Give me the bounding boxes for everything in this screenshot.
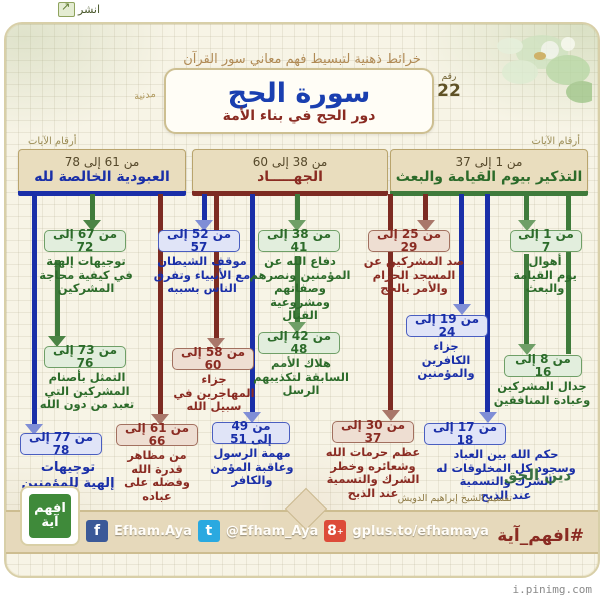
ayat-label-left: أرقام الآيات	[28, 136, 77, 147]
node-range-4: من 25 إلى 29	[375, 228, 443, 254]
node-caption-7: هلاك الأمم السابقة لتكذيبهم الرسل	[246, 357, 356, 398]
node-box-12[interactable]: من 67 إلى 72	[44, 230, 126, 252]
branch-box-2[interactable]: من 61 إلى 78 العبودية الخالصة لله	[18, 149, 186, 193]
node-range-5: من 30 إلى 37	[339, 419, 407, 445]
node-caption-5: عظم حرمات الله وشعائره وخطر الشرك والتسم…	[310, 446, 436, 500]
twitter-handle[interactable]: @Efham_Aya	[226, 524, 318, 539]
branch-title-1: الجهـــــاد	[257, 170, 323, 185]
node-range-3: من 19 إلى 24	[413, 313, 481, 339]
node-range-13: من 73 إلى 76	[51, 344, 119, 370]
node-box-14[interactable]: من 77 إلى 78	[20, 433, 102, 455]
node-box-5[interactable]: من 30 إلى 37	[332, 421, 414, 443]
brand-text: دين الحق	[504, 466, 571, 484]
node-box-8[interactable]: من 49 إلى 51	[212, 422, 290, 444]
branch-range-2: من 61 إلى 78	[65, 156, 140, 169]
node-caption-11: من مظاهر قدرة الله وفضله على عباده	[112, 449, 202, 503]
node-box-6[interactable]: من 38 إلى 41	[258, 230, 340, 252]
node-caption-12: توجيهات إلهية في كيفية محاجة المشركين	[32, 255, 140, 296]
node-box-11[interactable]: من 61 إلى 66	[116, 424, 198, 446]
facebook-handle[interactable]: Efham.Aya	[114, 524, 192, 539]
node-box-4[interactable]: من 25 إلى 29	[368, 230, 450, 252]
node-range-7: من 42 إلى 48	[265, 330, 333, 356]
node-box-3[interactable]: من 19 إلى 24	[406, 315, 488, 337]
surah-title-box: سورة الحج دور الحج في بناء الأمة	[164, 68, 434, 134]
node-box-2[interactable]: من 17 إلى 18	[424, 423, 506, 445]
surah-name: سورة الحج	[228, 80, 371, 107]
node-caption-0: أهوال يوم القيامة والبعث	[504, 255, 586, 296]
branch-underline-1	[192, 191, 388, 196]
node-range-12: من 67 إلى 72	[51, 228, 119, 254]
node-range-8: من 49 إلى 51	[219, 420, 283, 446]
facebook-icon[interactable]: f	[86, 520, 108, 542]
brand-logo: دين الحق	[504, 466, 588, 506]
branch-box-0[interactable]: من 1 إلى 37 التذكير بيوم القيامة والبعث	[390, 149, 588, 193]
node-caption-1: جدال المشركين وعبادة المنافقين	[490, 380, 594, 407]
share-label: انشر	[78, 3, 100, 16]
poster-card: خرائط ذهنية لتبسيط فهم معاني سور القرآن …	[4, 22, 600, 578]
twitter-icon[interactable]: t	[198, 520, 220, 542]
node-caption-3: جزاء الكافرين والمؤمنين	[398, 340, 494, 381]
share-bar: انشر	[0, 0, 600, 22]
node-range-14: من 77 إلى 78	[27, 431, 95, 457]
node-range-9: من 52 إلى 57	[165, 228, 233, 254]
node-box-10[interactable]: من 58 إلى 60	[172, 348, 254, 370]
logo-line-1: افهم	[34, 502, 66, 516]
surah-subtitle: دور الحج في بناء الأمة	[223, 109, 376, 123]
share-button[interactable]: انشر	[58, 2, 100, 17]
node-box-0[interactable]: من 1 إلى 7	[510, 230, 582, 252]
branch-title-2: العبودية الخالصة لله	[34, 170, 170, 185]
node-range-0: من 1 إلى 7	[517, 228, 575, 254]
share-icon	[58, 2, 75, 17]
connector-blue-m2	[202, 194, 207, 222]
social-links: f Efham.Aya t @Efham_Aya 8+ gplus.to/efh…	[86, 520, 489, 542]
connector-green-m1	[295, 194, 300, 222]
node-caption-9: موقف الشيطان مع الأنبياء وتفرق الناس بسب…	[146, 255, 258, 296]
node-range-11: من 61 إلى 66	[123, 422, 191, 448]
branch-box-1[interactable]: من 38 إلى 60 الجهـــــاد	[192, 149, 388, 193]
connector-green-l1	[90, 194, 95, 222]
watermark: i.pinimg.com	[513, 583, 592, 596]
node-box-13[interactable]: من 73 إلى 76	[44, 346, 126, 368]
efham-aya-logo: افهم آية	[20, 486, 80, 546]
node-range-2: من 17 إلى 18	[431, 421, 499, 447]
infographic-page: انشر خرائط ذهنية لتبسيط فهم معاني سور ال…	[0, 0, 600, 600]
connector-brown-m2	[158, 194, 163, 416]
node-range-6: من 38 إلى 41	[265, 228, 333, 254]
connector-brown-r1	[423, 194, 428, 222]
node-box-1[interactable]: من 8 إلى 16	[504, 355, 582, 377]
node-caption-13: التمثل بأصنام المشركين التي تعبد من دون …	[28, 371, 146, 412]
google-plus-icon[interactable]: 8+	[324, 520, 346, 542]
node-range-1: من 8 إلى 16	[511, 353, 575, 379]
gplus-link[interactable]: gplus.to/efhamaya	[352, 524, 489, 539]
node-caption-6: دفاع الله عن المؤمنين ونصرهم وصفاتهم ومش…	[244, 255, 356, 323]
logo-inner: افهم آية	[29, 494, 71, 538]
ayat-label-right: أرقام الآيات	[531, 136, 580, 147]
logo-line-2: آية	[41, 516, 58, 530]
surah-number-value: 22	[432, 83, 466, 100]
node-caption-10: جزاء المهاجرين في سبيل الله	[166, 373, 262, 414]
branch-title-0: التذكير بيوم القيامة والبعث	[396, 170, 583, 185]
node-box-7[interactable]: من 42 إلى 48	[258, 332, 340, 354]
node-box-9[interactable]: من 52 إلى 57	[158, 230, 240, 252]
node-caption-8: مهمة الرسول وعاقبة المؤمن والكافر	[202, 447, 302, 488]
node-range-10: من 58 إلى 60	[179, 346, 247, 372]
branch-range-1: من 38 إلى 60	[253, 156, 328, 169]
credit-text: تقسيم الشيخ إبراهيم الدويش	[398, 493, 512, 504]
branch-range-0: من 1 إلى 37	[456, 156, 523, 169]
page-kicker: خرائط ذهنية لتبسيط فهم معاني سور القرآن	[6, 52, 598, 67]
node-caption-4: صد المشركين عن المسجد الحرام والأمر بالح…	[356, 255, 472, 296]
hashtag: #افهم_آية	[497, 526, 584, 546]
connector-green-r2	[524, 194, 529, 222]
surah-number-badge: رقم 22	[432, 72, 466, 118]
